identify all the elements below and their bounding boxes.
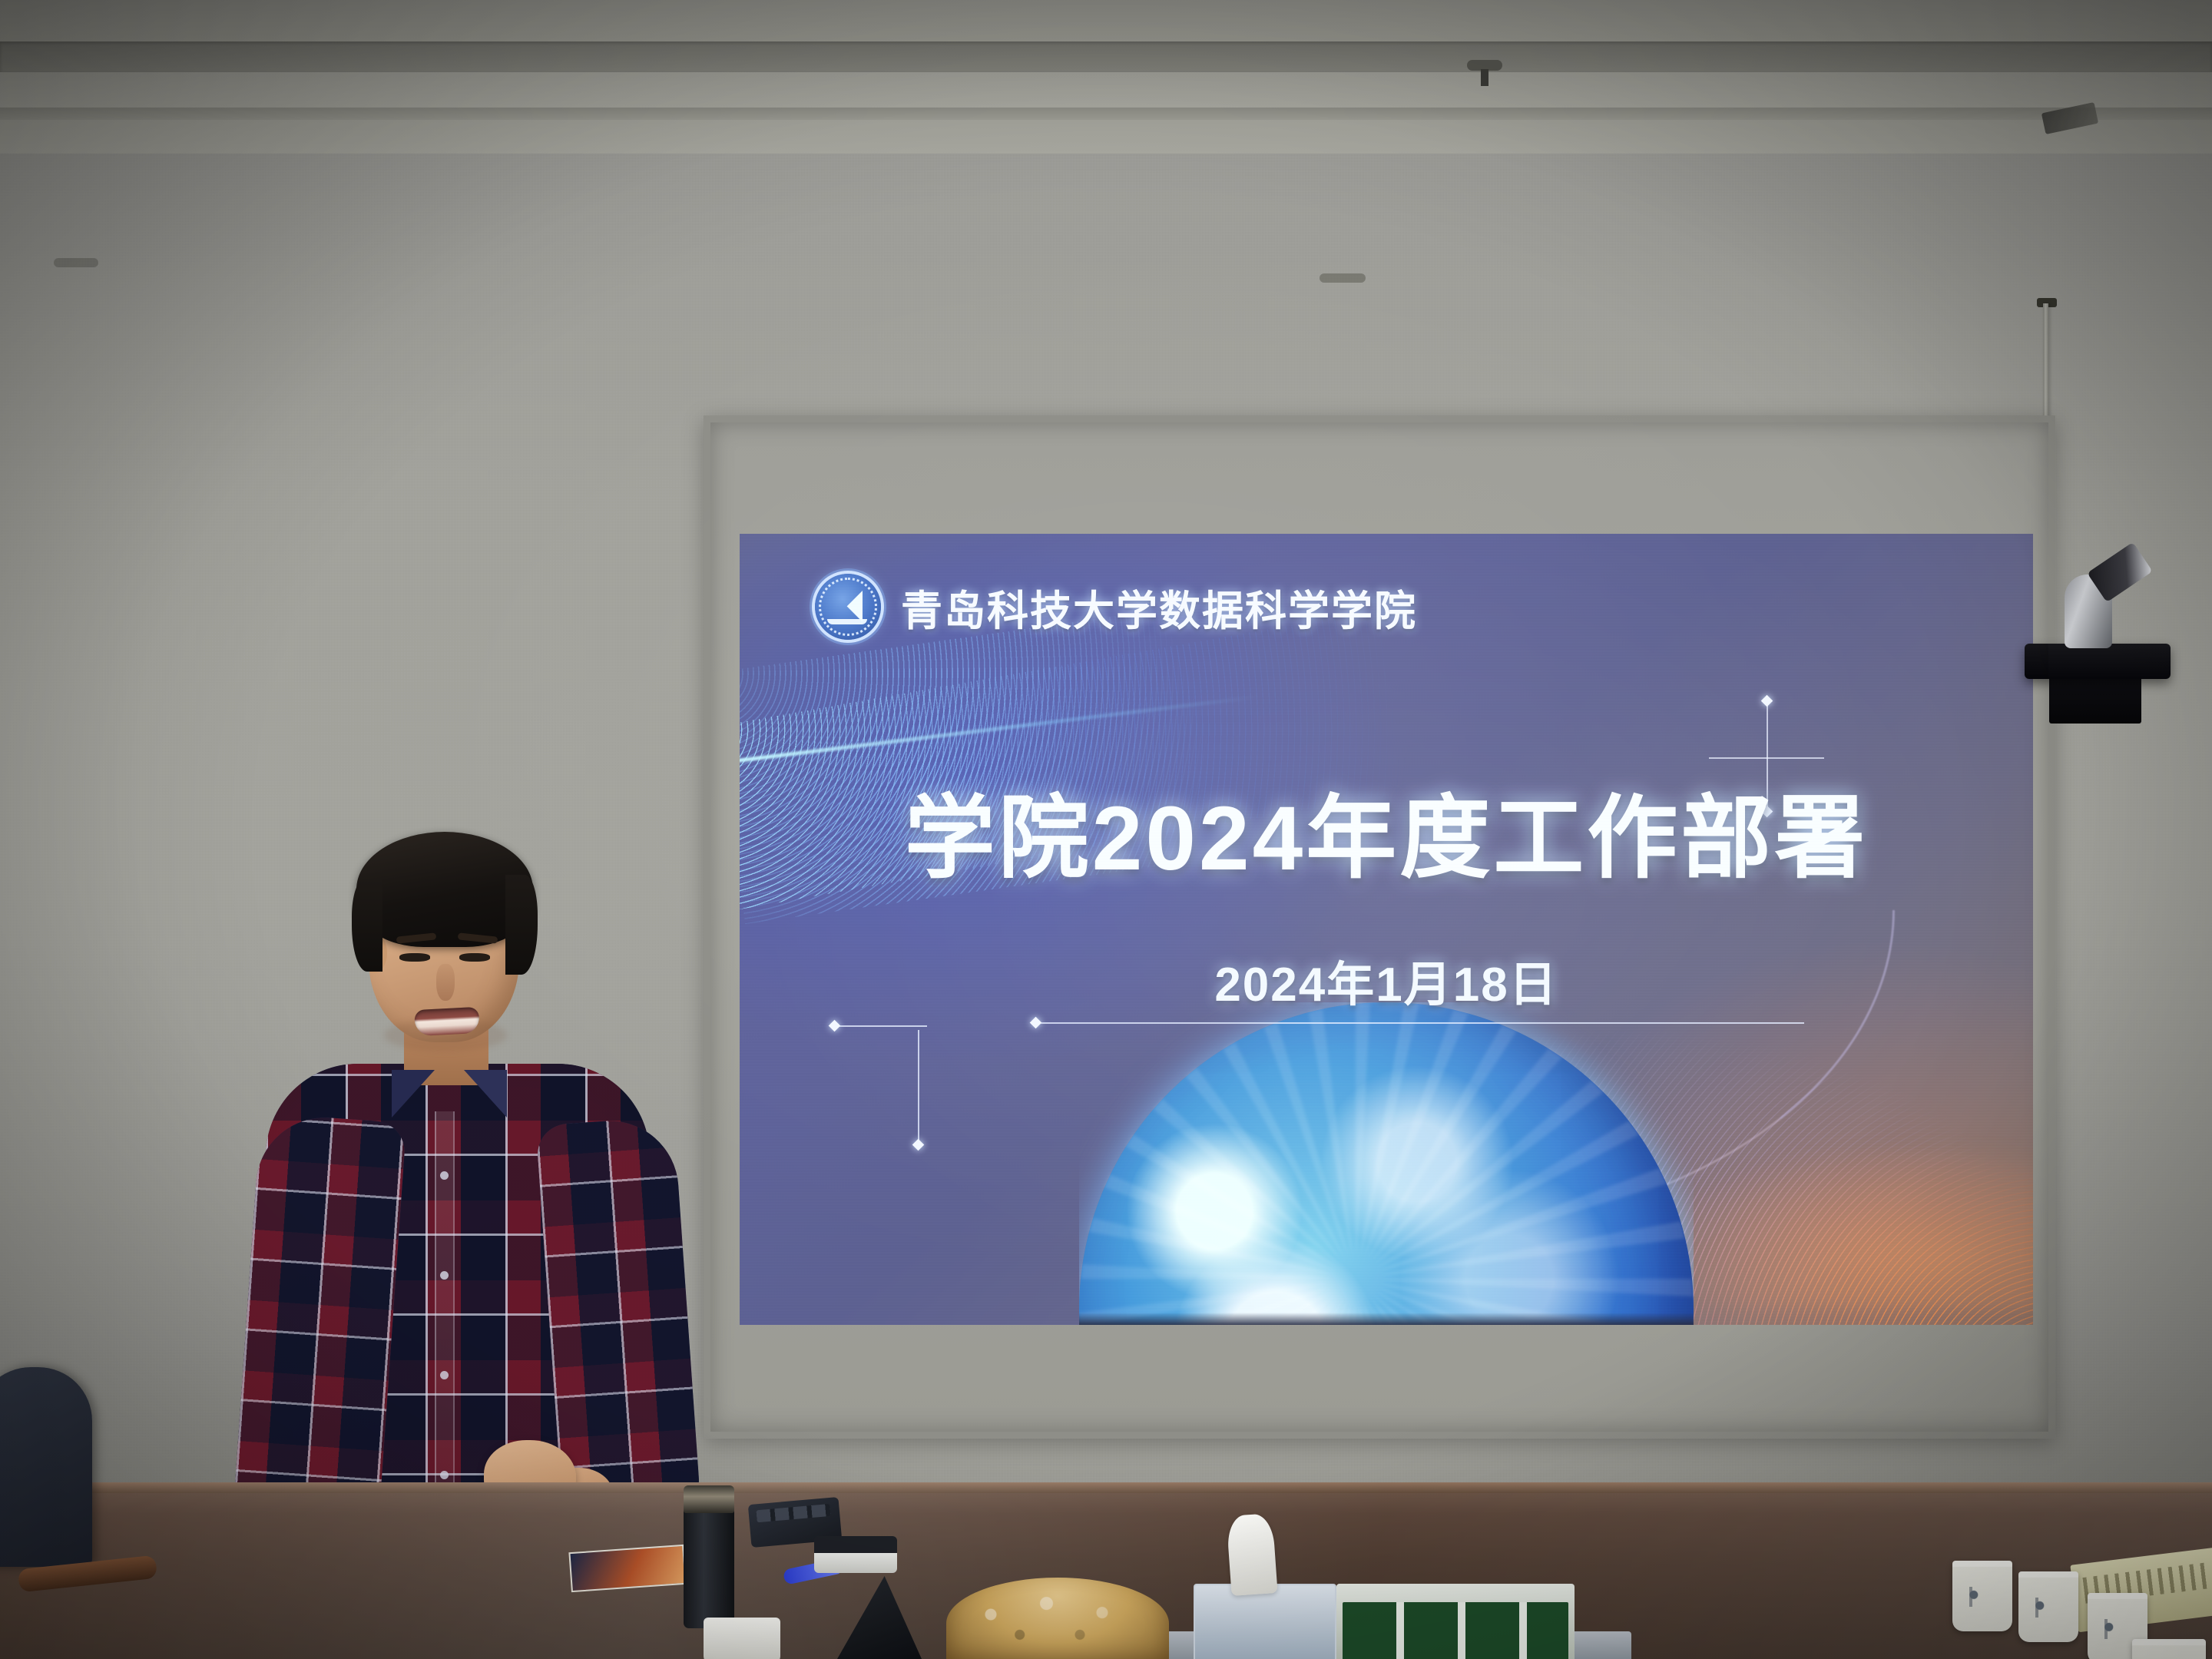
presenter-nose — [436, 964, 455, 1001]
paper-cup — [1952, 1561, 2012, 1631]
whiteboard-eraser[interactable] — [814, 1536, 897, 1573]
shirt-button — [440, 1171, 449, 1180]
shirt-button — [440, 1371, 449, 1379]
presenter-hair — [356, 832, 533, 947]
presenter-mouth — [414, 1007, 480, 1036]
thermos-flask — [684, 1499, 734, 1628]
ptz-camera-mount — [2025, 644, 2171, 679]
paper-cup — [2018, 1571, 2078, 1642]
shirt-button — [440, 1271, 449, 1280]
tissue-box — [1194, 1584, 1336, 1659]
green-packet-tray — [1336, 1584, 1575, 1659]
paper-cup — [2132, 1639, 2206, 1659]
conference-chair — [0, 1367, 92, 1567]
screenshot-scene: 青岛科技大学数据科学学院 学院2024年度工作部署 2024年1月18日 — [0, 0, 2212, 1659]
presenter-eye — [399, 953, 430, 962]
presenter-eye — [459, 953, 490, 962]
shirt-button — [440, 1471, 449, 1479]
thermos-cap — [684, 1485, 734, 1513]
white-cup — [704, 1618, 780, 1659]
ptz-camera-plate — [2049, 676, 2141, 724]
booklet — [568, 1545, 686, 1592]
